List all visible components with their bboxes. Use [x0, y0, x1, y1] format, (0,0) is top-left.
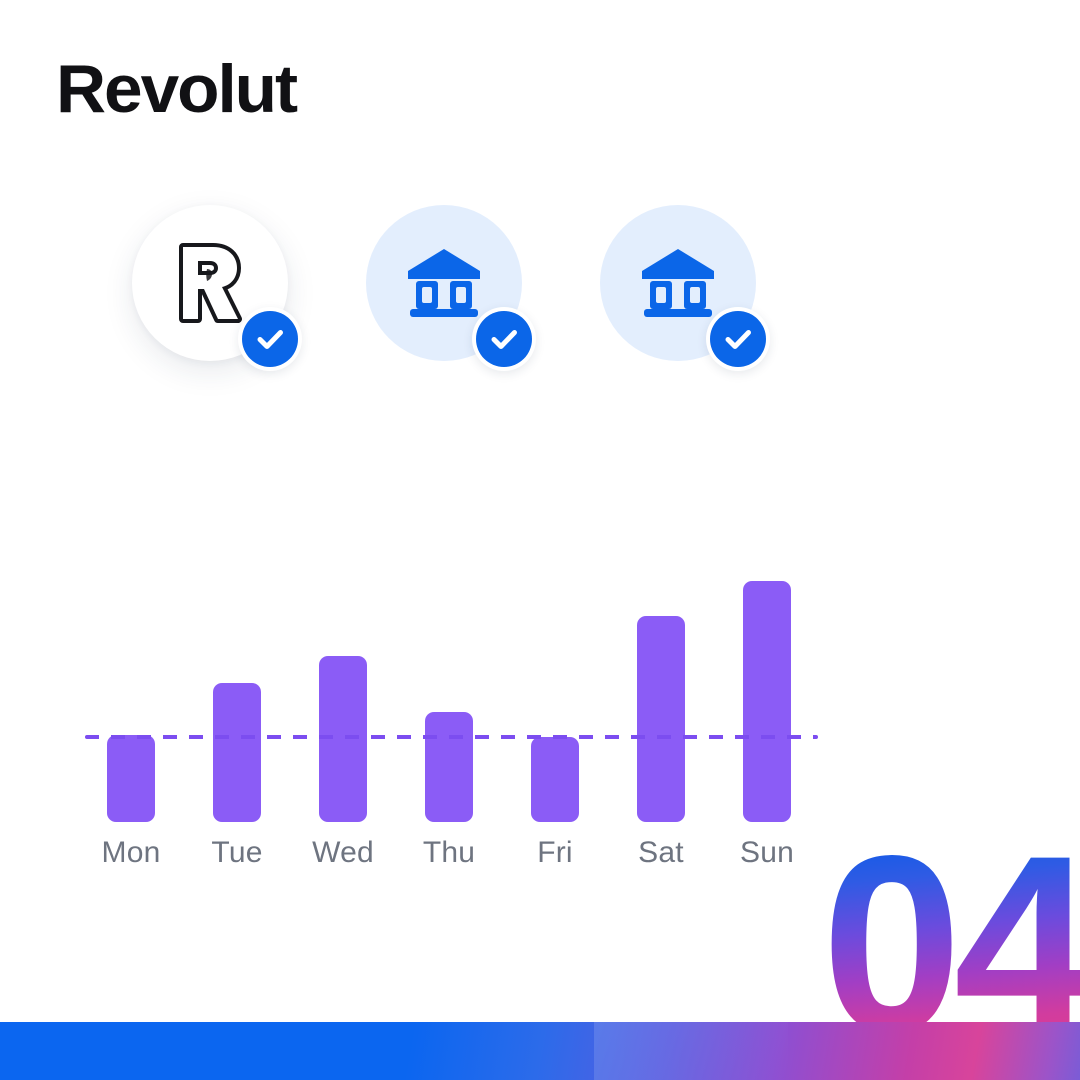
chart-x-label: Sat — [601, 836, 721, 870]
chart-bar — [319, 656, 367, 822]
linked-accounts-row — [0, 0, 1080, 420]
check-icon — [722, 323, 754, 355]
average-dashed-line — [85, 735, 818, 739]
verified-badge — [472, 307, 536, 371]
chart-bar — [637, 616, 685, 822]
verified-badge — [238, 307, 302, 371]
chart-bar — [743, 581, 791, 822]
verified-badge-fill — [710, 311, 766, 367]
chart-bar — [213, 683, 261, 822]
chart-plot-area — [85, 540, 825, 822]
bank-icon — [640, 247, 716, 319]
chart-bar — [425, 712, 473, 822]
account-badge-revolut[interactable] — [132, 205, 288, 361]
chart-x-label: Thu — [389, 836, 509, 870]
chart-x-label: Wed — [283, 836, 403, 870]
check-icon — [488, 323, 520, 355]
account-badge-bank-1[interactable] — [366, 205, 522, 361]
account-badge-bank-2[interactable] — [600, 205, 756, 361]
chart-x-label: Tue — [177, 836, 297, 870]
revolut-r-icon — [171, 241, 249, 325]
check-icon — [254, 323, 286, 355]
chart-bar — [107, 735, 155, 822]
bottom-gradient-bar — [0, 1022, 1080, 1080]
chart-x-label: Mon — [71, 836, 191, 870]
chart-bar — [531, 737, 579, 822]
verified-badge-fill — [476, 311, 532, 367]
slide-canvas: Revolut — [0, 0, 1080, 1080]
chart-x-label: Sun — [707, 836, 827, 870]
chart-x-label: Fri — [495, 836, 615, 870]
verified-badge — [706, 307, 770, 371]
bank-icon — [406, 247, 482, 319]
verified-badge-fill — [242, 311, 298, 367]
